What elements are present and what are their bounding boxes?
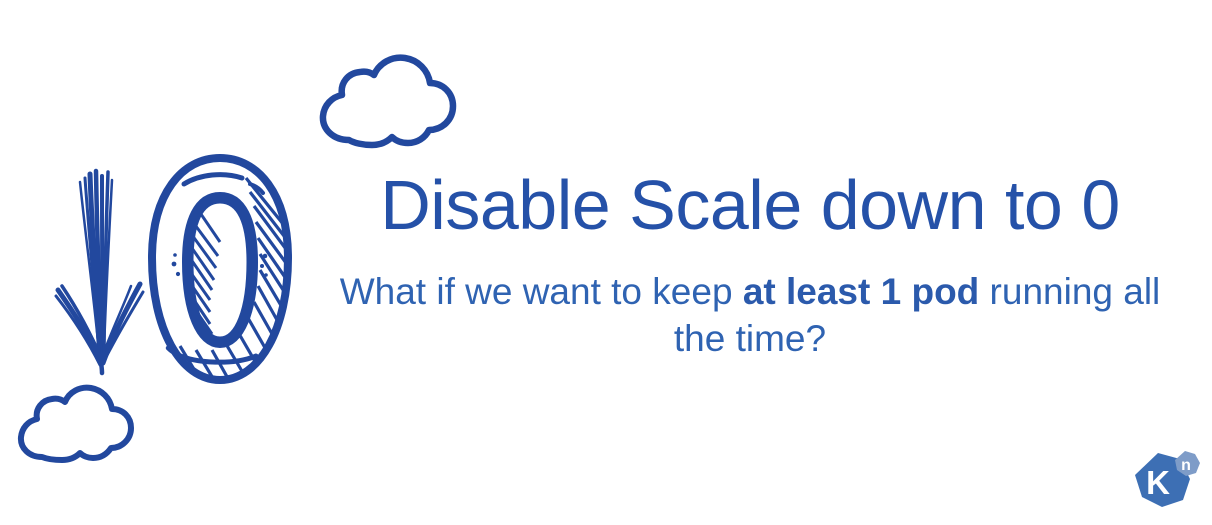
text-block: Disable Scale down to 0 What if we want … — [330, 170, 1170, 363]
logo-letter-n: n — [1181, 457, 1191, 474]
subtitle-emphasis: at least 1 pod — [743, 271, 979, 312]
cloud-icon — [12, 383, 137, 468]
arrow-down-icon — [52, 162, 150, 377]
page-subtitle: What if we want to keep at least 1 pod r… — [330, 268, 1170, 363]
subtitle-lead: What if we want to keep — [340, 271, 743, 312]
knative-logo: K n — [1128, 447, 1204, 519]
slide-canvas: Disable Scale down to 0 What if we want … — [0, 0, 1212, 525]
cloud-icon — [313, 52, 463, 152]
page-title: Disable Scale down to 0 — [330, 170, 1170, 240]
handdrawn-zero-icon — [138, 148, 303, 393]
logo-letter-k: K — [1146, 464, 1170, 501]
